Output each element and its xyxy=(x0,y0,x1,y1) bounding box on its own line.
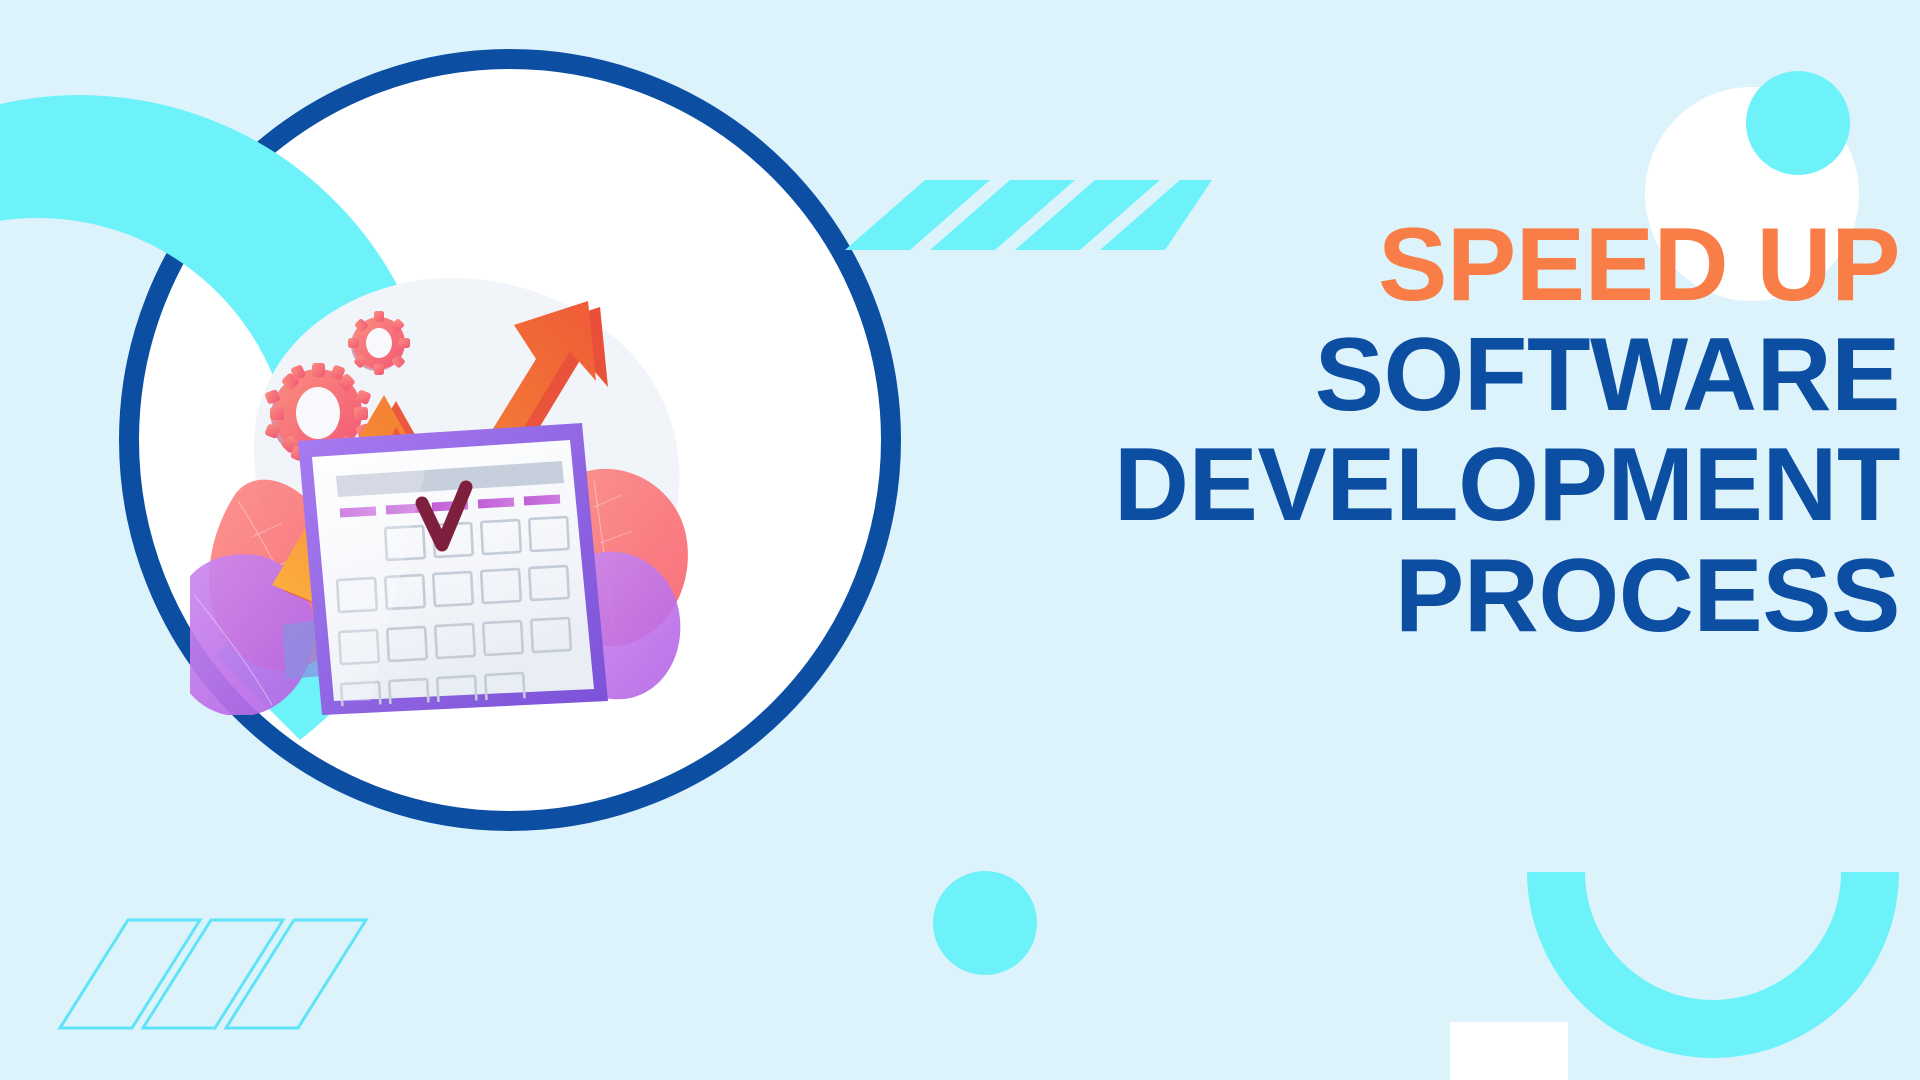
headline-line-3: DEVELOPMENT xyxy=(960,430,1900,540)
gear-small-hole xyxy=(366,328,392,358)
headline: SPEED UP SOFTWARE DEVELOPMENT PROCESS xyxy=(960,210,1900,651)
white-rectangle-bottom xyxy=(1450,1022,1568,1080)
calendar-icon xyxy=(282,423,608,715)
cyan-circle-top-right xyxy=(1746,71,1850,175)
headline-line-2: SOFTWARE xyxy=(960,320,1900,430)
headline-line-1: SPEED UP xyxy=(960,210,1900,320)
poster-canvas: SPEED UP SOFTWARE DEVELOPMENT PROCESS xyxy=(0,0,1920,1080)
cyan-circle-bottom xyxy=(933,871,1037,975)
gear-large-hole xyxy=(296,387,340,439)
headline-line-4: PROCESS xyxy=(960,541,1900,651)
software-speed-illustration xyxy=(190,255,750,715)
